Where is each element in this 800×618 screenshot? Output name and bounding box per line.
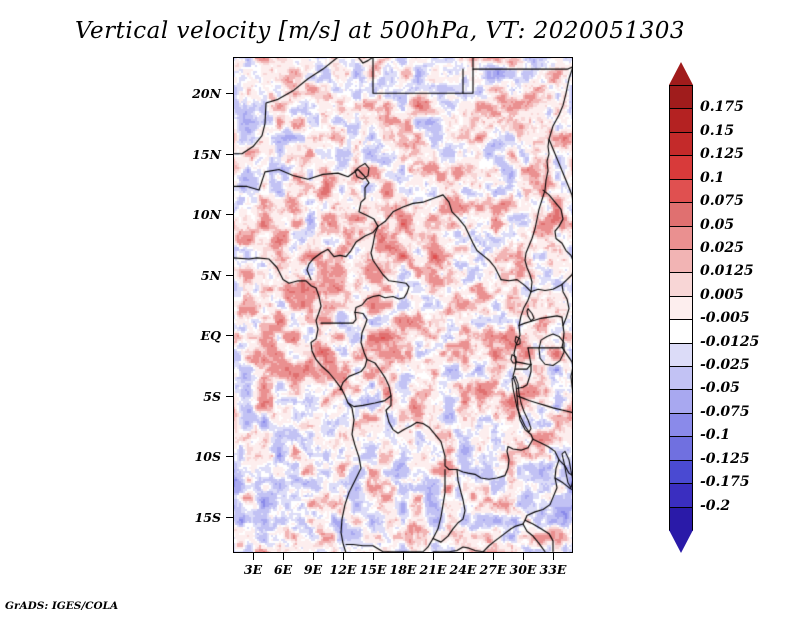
x-axis-tick xyxy=(523,553,524,560)
y-axis-tick xyxy=(226,154,233,155)
colorbar-tick-label: -0.175 xyxy=(700,475,750,489)
colorbar-tick-label: 0.15 xyxy=(700,124,734,138)
colorbar-top-arrow xyxy=(669,62,693,85)
y-axis-tick xyxy=(226,517,233,518)
y-axis-label: 15S xyxy=(0,510,221,525)
colorbar-band xyxy=(669,483,693,508)
colorbar-tick-label: -0.125 xyxy=(700,452,750,466)
y-axis-label: 10S xyxy=(0,449,221,464)
colorbar-tick-label: 0.175 xyxy=(700,100,744,114)
colorbar-band xyxy=(669,179,693,204)
colorbar-band xyxy=(669,202,693,227)
y-axis-label: 5S xyxy=(0,389,221,404)
y-axis-tick xyxy=(226,275,233,276)
x-axis-tick xyxy=(283,553,284,560)
y-axis-label: 15N xyxy=(0,147,221,162)
y-axis-label: 10N xyxy=(0,207,221,222)
footer-credit: GrADS: IGES/COLA xyxy=(5,600,118,612)
y-axis-tick xyxy=(226,214,233,215)
colorbar-band xyxy=(669,343,693,368)
colorbar-tick-label: 0.125 xyxy=(700,147,744,161)
colorbar-band xyxy=(669,507,693,532)
colorbar-band xyxy=(669,413,693,438)
x-axis-tick xyxy=(463,553,464,560)
y-axis-label: 20N xyxy=(0,86,221,101)
x-axis-tick xyxy=(313,553,314,560)
x-axis-tick xyxy=(433,553,434,560)
y-axis-tick xyxy=(226,335,233,336)
colorbar-band xyxy=(669,226,693,251)
y-axis-label: 5N xyxy=(0,268,221,283)
map-plot-area xyxy=(233,57,573,553)
x-axis-tick xyxy=(403,553,404,560)
y-axis-label: EQ xyxy=(0,328,221,343)
x-axis-tick xyxy=(493,553,494,560)
colorbar-tick-label: 0.1 xyxy=(700,171,724,185)
colorbar-tick-label: 0.005 xyxy=(700,288,744,302)
colorbar-band xyxy=(669,389,693,414)
y-axis-tick xyxy=(226,456,233,457)
x-axis-tick xyxy=(553,553,554,560)
colorbar-tick-label: -0.025 xyxy=(700,358,750,372)
colorbar-bottom-arrow xyxy=(669,530,693,553)
colorbar-tick-label: -0.075 xyxy=(700,405,750,419)
grads-plot-page: Vertical velocity [m/s] at 500hPa, VT: 2… xyxy=(0,0,800,618)
colorbar-band xyxy=(669,155,693,180)
y-axis-tick xyxy=(226,93,233,94)
page-title: Vertical velocity [m/s] at 500hPa, VT: 2… xyxy=(0,18,760,44)
colorbar-band xyxy=(669,460,693,485)
colorbar-tick-label: -0.05 xyxy=(700,381,740,395)
colorbar-band xyxy=(669,296,693,321)
colorbar-tick-label: 0.0125 xyxy=(700,264,754,278)
x-axis-tick xyxy=(253,553,254,560)
colorbar-tick-label: -0.0125 xyxy=(700,335,759,349)
colorbar-tick-label: -0.2 xyxy=(700,499,730,513)
colorbar-tick-label: -0.1 xyxy=(700,428,730,442)
x-axis-label: 33E xyxy=(533,562,573,577)
colorbar-tick-label: 0.075 xyxy=(700,194,744,208)
colorbar-band xyxy=(669,366,693,391)
colorbar-band xyxy=(669,132,693,157)
colorbar-band xyxy=(669,319,693,344)
colorbar xyxy=(669,62,693,553)
x-axis-tick xyxy=(343,553,344,560)
colorbar-tick-label: -0.005 xyxy=(700,311,750,325)
colorbar-tick-label: 0.025 xyxy=(700,241,744,255)
colorbar-band xyxy=(669,272,693,297)
plot-frame xyxy=(233,57,573,553)
colorbar-tick-label: 0.05 xyxy=(700,218,734,232)
colorbar-band xyxy=(669,249,693,274)
colorbar-band xyxy=(669,108,693,133)
colorbar-band xyxy=(669,85,693,110)
y-axis-tick xyxy=(226,396,233,397)
x-axis-tick xyxy=(373,553,374,560)
colorbar-band xyxy=(669,436,693,461)
